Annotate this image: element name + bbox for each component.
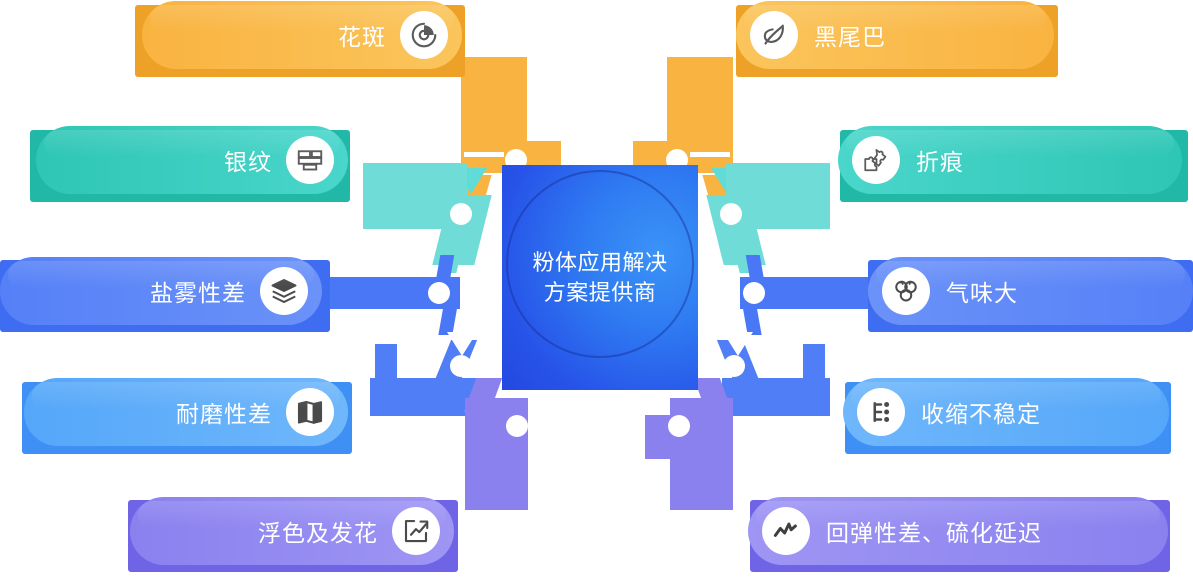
layers-icon [260, 267, 308, 315]
puzzle-icon [852, 136, 900, 184]
center-label-line2: 方案提供商 [544, 278, 657, 308]
node-label: 花斑 [338, 18, 386, 52]
connector-arrow-icon [723, 332, 753, 356]
connector-notch [464, 152, 504, 157]
sitemap-icon [857, 388, 905, 436]
node-huaban[interactable]: 花斑 [142, 1, 462, 69]
connector-dot [723, 355, 745, 377]
node-label: 折痕 [916, 143, 964, 177]
node-label: 耐磨性差 [176, 395, 272, 429]
connector-segment [375, 344, 397, 386]
node-label: 回弹性差、硫化延迟 [826, 514, 1042, 548]
book-icon [286, 388, 334, 436]
node-fuse[interactable]: 浮色及发花 [130, 497, 454, 565]
center-label: 粉体应用解决 方案提供商 [502, 165, 698, 390]
node-label: 气味大 [946, 274, 1018, 308]
connector-segment [742, 305, 761, 335]
line-chart-icon [762, 507, 810, 555]
node-label: 黑尾巴 [814, 18, 886, 52]
pie-chart-icon [400, 11, 448, 59]
connector-dot [450, 203, 472, 225]
connector-dot [720, 203, 742, 225]
connector-notch [690, 152, 730, 157]
node-yinwen[interactable]: 银纹 [36, 126, 348, 194]
node-qiwei[interactable]: 气味大 [868, 257, 1193, 325]
node-label: 浮色及发花 [258, 514, 378, 548]
connector-dot [450, 355, 472, 377]
node-naimo[interactable]: 耐磨性差 [24, 378, 348, 446]
trend-box-icon [392, 507, 440, 555]
node-heiweiba[interactable]: 黑尾巴 [736, 1, 1054, 69]
connector-dot [506, 415, 528, 437]
connector-dot [743, 282, 765, 304]
recycle-icon [882, 267, 930, 315]
leaf-icon [750, 11, 798, 59]
node-shousuo[interactable]: 收缩不稳定 [843, 378, 1169, 446]
node-label: 收缩不稳定 [921, 395, 1041, 429]
connector-segment [803, 344, 825, 386]
node-huitan[interactable]: 回弹性差、硫化延迟 [748, 497, 1168, 565]
node-label: 盐雾性差 [150, 274, 246, 308]
brick-wall-icon [286, 136, 334, 184]
connector-arrow-icon [447, 332, 477, 356]
connector-dot [428, 282, 450, 304]
node-label: 银纹 [224, 143, 272, 177]
connector-dot [668, 415, 690, 437]
connector-segment [438, 305, 457, 335]
infographic-canvas: 粉体应用解决 方案提供商 花斑 银纹 盐雾性差 [0, 0, 1193, 577]
center-label-line1: 粉体应用解决 [532, 248, 667, 278]
node-yanwu[interactable]: 盐雾性差 [0, 257, 322, 325]
node-zhehen[interactable]: 折痕 [838, 126, 1182, 194]
